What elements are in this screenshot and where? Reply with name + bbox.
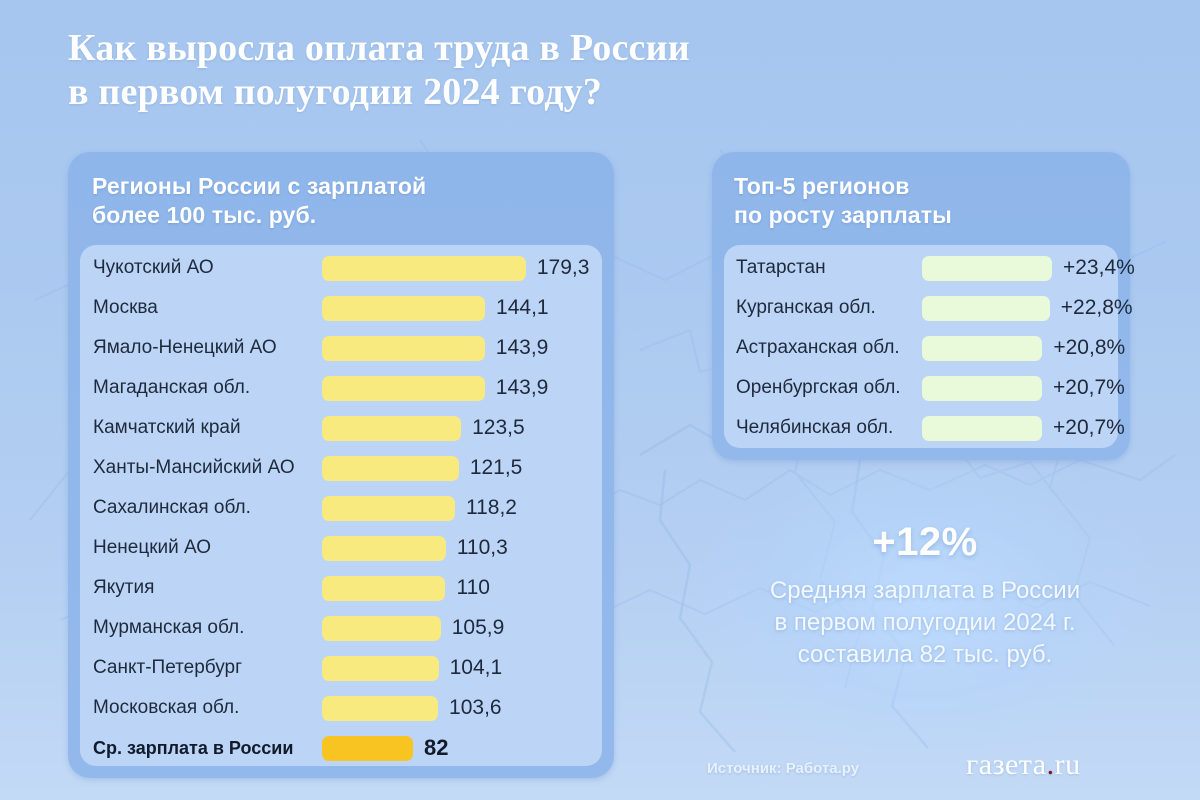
row-bar	[322, 736, 413, 761]
row-bar	[322, 456, 459, 481]
row-bar	[322, 696, 438, 721]
chart-row: Магаданская обл.143,9	[80, 368, 602, 408]
row-bar	[322, 376, 485, 401]
chart-row: Чукотский АО179,3	[80, 248, 602, 288]
right-panel-list: Татарстан+23,4%Курганская обл.+22,8%Астр…	[724, 245, 1118, 448]
row-value: 143,9	[496, 336, 549, 360]
row-bar	[922, 336, 1042, 361]
source-note: Источник: Работа.ру	[707, 760, 859, 777]
logo-dot: .	[1047, 748, 1055, 781]
row-label: Ср. зарплата в России	[93, 738, 293, 759]
row-value: +20,8%	[1053, 336, 1125, 360]
row-label: Чукотский АО	[93, 257, 214, 279]
row-label: Московская обл.	[93, 697, 239, 719]
chart-row: Татарстан+23,4%	[724, 248, 1118, 288]
row-bar	[322, 576, 445, 601]
summary-line-2: в первом полугодии 2024 г.	[690, 607, 1160, 639]
left-panel-heading: Регионы России с зарплатой более 100 тыс…	[92, 172, 592, 230]
row-value: +23,4%	[1063, 256, 1135, 280]
logo-suffix: ru	[1055, 748, 1081, 781]
row-value: 144,1	[496, 296, 549, 320]
average-growth-percent: +12%	[690, 520, 1160, 565]
row-bar	[322, 656, 439, 681]
infographic-root: Как выросла оплата труда в России в перв…	[0, 0, 1200, 800]
row-label: Оренбургская обл.	[736, 377, 901, 399]
row-value: +20,7%	[1053, 416, 1125, 440]
chart-row: Москва144,1	[80, 288, 602, 328]
row-label: Татарстан	[736, 257, 826, 279]
page-title-line-1: Как выросла оплата труда в России	[68, 26, 1028, 70]
chart-row: Оренбургская обл.+20,7%	[724, 368, 1118, 408]
row-bar	[922, 296, 1050, 321]
chart-row: Московская обл.103,6	[80, 688, 602, 728]
row-value: 143,9	[496, 376, 549, 400]
chart-row: Челябинская обл.+20,7%	[724, 408, 1118, 448]
gazeta-logo[interactable]: газета.ru	[966, 748, 1081, 782]
left-panel: Регионы России с зарплатой более 100 тыс…	[68, 152, 614, 778]
row-label: Москва	[93, 297, 158, 319]
chart-row: Ханты-Мансийский АО121,5	[80, 448, 602, 488]
row-value: 110,3	[457, 536, 508, 560]
row-value: +22,8%	[1061, 296, 1133, 320]
row-label: Ненецкий АО	[93, 537, 211, 559]
summary-text: Средняя зарплата в России в первом полуг…	[690, 575, 1160, 671]
row-value: 110	[456, 576, 489, 600]
chart-row: Сахалинская обл.118,2	[80, 488, 602, 528]
row-label: Ханты-Мансийский АО	[93, 457, 295, 479]
chart-row: Якутия110	[80, 568, 602, 608]
chart-row: Ненецкий АО110,3	[80, 528, 602, 568]
row-bar	[322, 496, 455, 521]
row-label: Камчатский край	[93, 417, 241, 439]
page-title-line-2: в первом полугодии 2024 году?	[68, 70, 1028, 114]
chart-row: Камчатский край123,5	[80, 408, 602, 448]
summary-line-1: Средняя зарплата в России	[690, 575, 1160, 607]
right-panel: Топ-5 регионов по росту зарплаты Татарст…	[712, 152, 1130, 460]
chart-row: Ямало-Ненецкий АО143,9	[80, 328, 602, 368]
left-panel-heading-line-2: более 100 тыс. руб.	[92, 201, 592, 230]
row-value: 105,9	[452, 616, 505, 640]
row-value: 103,6	[449, 696, 502, 720]
row-value: 123,5	[472, 416, 525, 440]
right-panel-heading: Топ-5 регионов по росту зарплаты	[734, 172, 1114, 230]
row-bar	[322, 416, 461, 441]
row-value: 104,1	[450, 656, 503, 680]
row-label: Курганская обл.	[736, 297, 876, 319]
row-bar	[322, 256, 526, 281]
chart-row: Мурманская обл.105,9	[80, 608, 602, 648]
row-label: Челябинская обл.	[736, 417, 893, 439]
row-bar	[922, 256, 1052, 281]
average-row: Ср. зарплата в России82	[80, 728, 602, 768]
row-bar	[922, 376, 1042, 401]
row-value: 118,2	[466, 496, 517, 520]
right-panel-heading-line-2: по росту зарплаты	[734, 201, 1114, 230]
left-panel-heading-line-1: Регионы России с зарплатой	[92, 172, 592, 201]
chart-row: Санкт-Петербург104,1	[80, 648, 602, 688]
page-title: Как выросла оплата труда в России в перв…	[68, 26, 1028, 114]
row-value: 82	[424, 735, 448, 761]
summary-line-3: составила 82 тыс. руб.	[690, 639, 1160, 671]
row-label: Магаданская обл.	[93, 377, 250, 399]
left-panel-list: Чукотский АО179,3Москва144,1Ямало-Ненецк…	[80, 245, 602, 766]
row-bar	[922, 416, 1042, 441]
row-label: Мурманская обл.	[93, 617, 244, 639]
row-label: Астраханская обл.	[736, 337, 900, 359]
row-value: 179,3	[537, 256, 590, 280]
logo-word: газета	[966, 748, 1047, 781]
row-label: Сахалинская обл.	[93, 497, 251, 519]
row-label: Санкт-Петербург	[93, 657, 242, 679]
row-label: Ямало-Ненецкий АО	[93, 337, 277, 359]
row-bar	[322, 336, 485, 361]
row-label: Якутия	[93, 577, 154, 599]
row-bar	[322, 616, 441, 641]
row-bar	[322, 296, 485, 321]
chart-row: Астраханская обл.+20,8%	[724, 328, 1118, 368]
row-value: +20,7%	[1053, 376, 1125, 400]
chart-row: Курганская обл.+22,8%	[724, 288, 1118, 328]
row-value: 121,5	[470, 456, 523, 480]
right-panel-heading-line-1: Топ-5 регионов	[734, 172, 1114, 201]
row-bar	[322, 536, 446, 561]
